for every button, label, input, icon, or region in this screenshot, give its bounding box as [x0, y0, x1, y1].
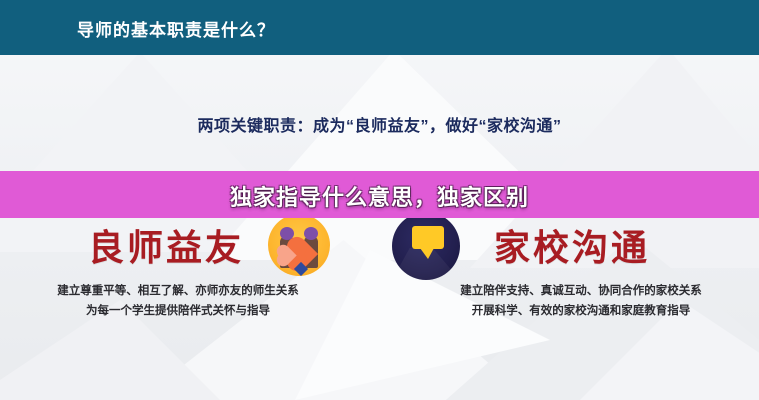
header-title: 导师的基本职责是什么？	[77, 16, 275, 41]
column-heading-left: 良师益友	[88, 219, 244, 271]
column-detail-left: 建立尊重平等、相互了解、亦师亦友的师生关系 为每一个学生提供陪伴式关怀与指导	[8, 281, 348, 321]
hearts-family-icon	[268, 214, 330, 276]
detail-right-line-2: 开展科学、有效的家校沟通和家庭教育指导	[411, 301, 751, 321]
header-band: 导师的基本职责是什么？	[0, 0, 759, 55]
slide-subtitle: 两项关键职责：成为“良师益友”，做好“家校沟通”	[0, 112, 759, 136]
column-detail-right: 建立陪伴支持、真诚互动、协同合作的家校关系 开展科学、有效的家校沟通和家庭教育指…	[411, 281, 751, 321]
screenshot-stage: 导师的基本职责是什么？ 两项关键职责：成为“良师益友”，做好“家校沟通” 每一个…	[0, 0, 759, 400]
detail-left-line-1: 建立尊重平等、相互了解、亦师亦友的师生关系	[57, 285, 299, 297]
detail-right-line-1: 建立陪伴支持、真诚互动、协同合作的家校关系	[460, 285, 702, 297]
column-heading-right: 家校沟通	[494, 219, 650, 271]
bubble-shape	[412, 226, 444, 249]
detail-left-line-2: 为每一个学生提供陪伴式关怀与指导	[8, 301, 348, 321]
figure-head-right	[304, 227, 318, 240]
speech-bubble-icon	[392, 212, 460, 280]
overlay-title: 独家指导什么意思，独家区别	[0, 180, 759, 212]
